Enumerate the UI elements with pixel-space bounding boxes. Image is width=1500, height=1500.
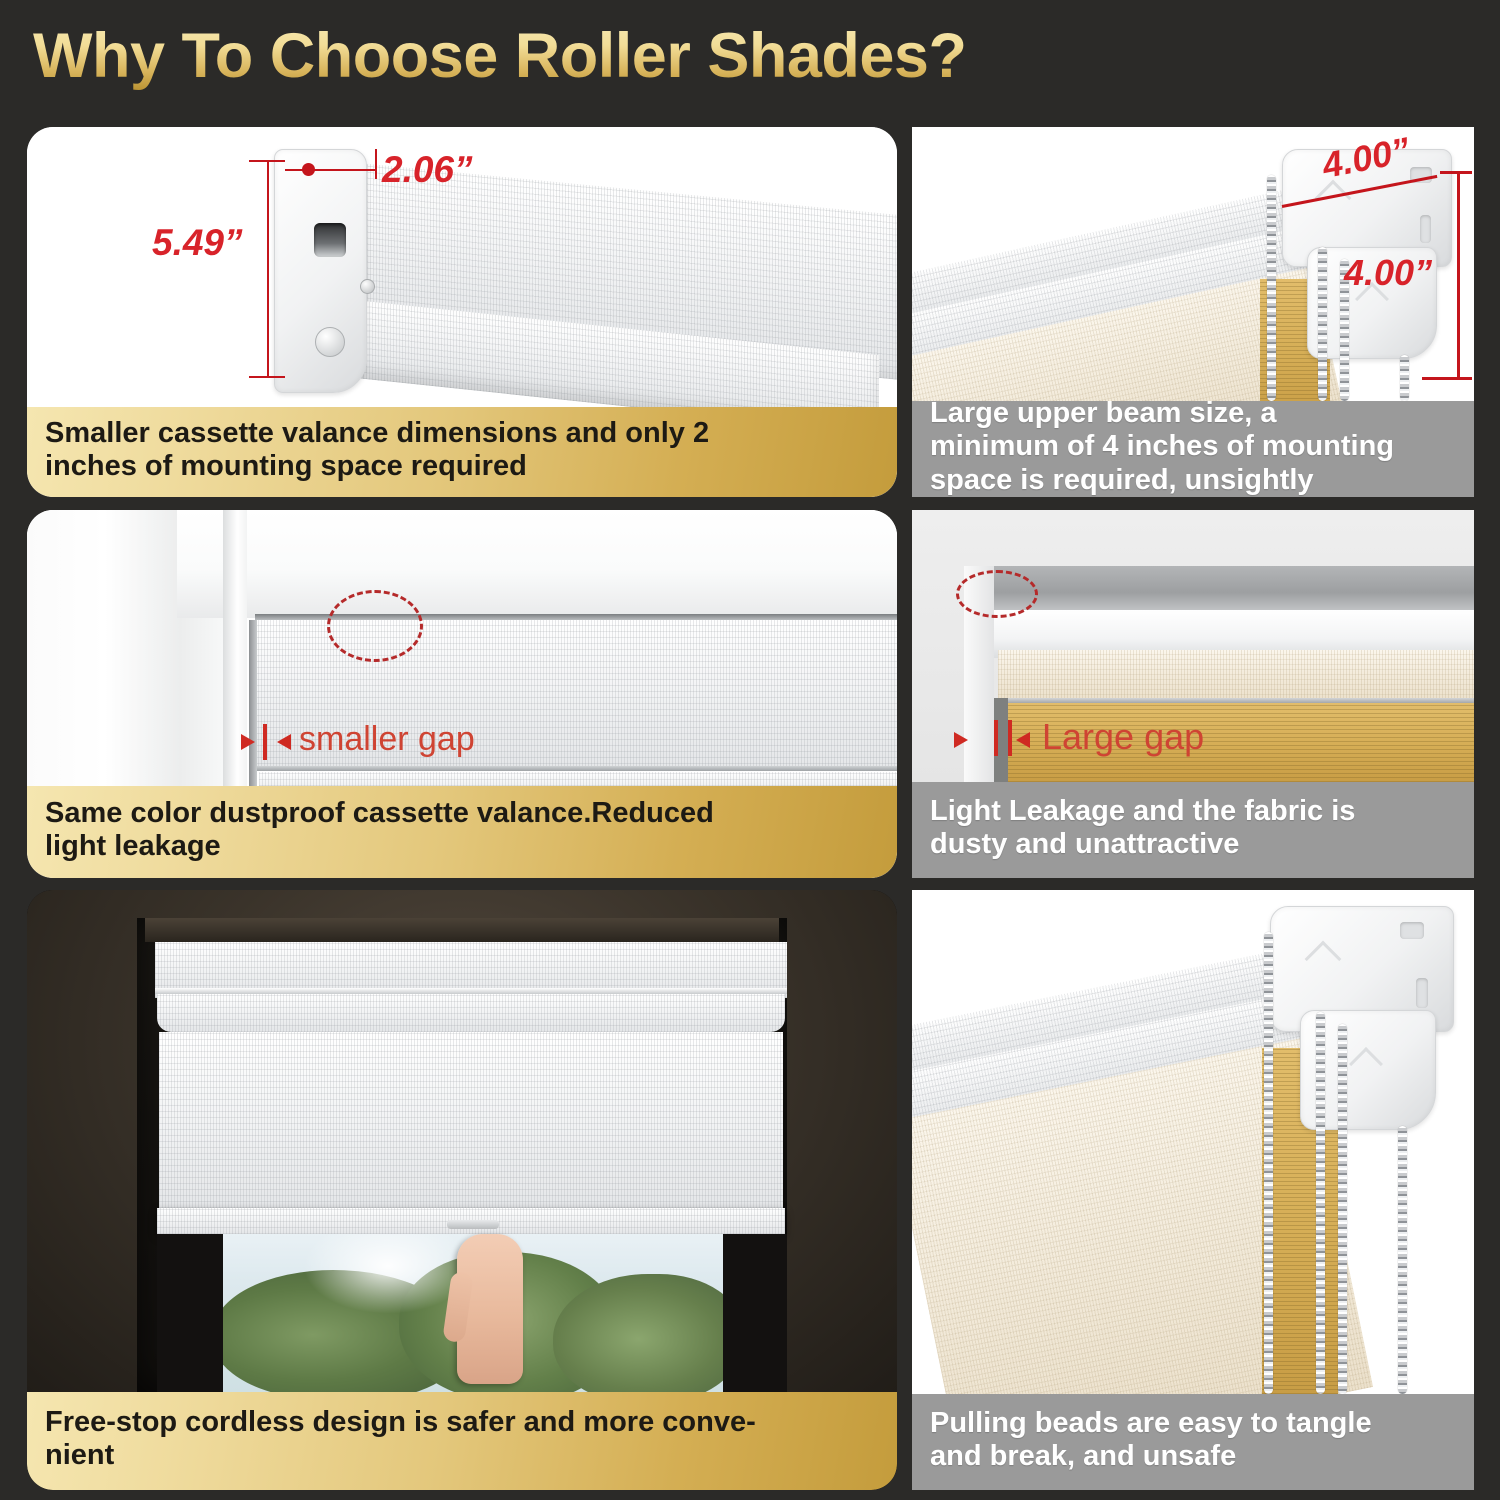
photo-small-gap: smaller gap [27,510,897,798]
panel-con-beads: Pulling beads are easy to tangle and bre… [912,890,1474,1490]
gap-marker-bar-2 [1008,720,1012,756]
end-cap-slot-icon [314,223,346,257]
panel-pro-cassette-size: 5.49” 2.06” Smaller cassette valance dim… [27,127,897,497]
gap-marker-bar-1 [994,720,998,756]
beam-height-dimension-label: 4.00” [1344,252,1432,294]
caption-con-beam-size: Large upper beam size, a minimum of 4 in… [912,401,1474,497]
caption-text: Light Leakage and the fabric is dusty an… [930,795,1456,861]
gap-arrow-right-icon [241,734,255,750]
height-dimension-label: 5.49” [152,222,243,264]
gap-arrow-left-icon [277,734,291,750]
valance-end-cap [274,149,367,393]
photo-large-gap: Large gap [912,510,1474,782]
shade-fabric-seam [257,766,897,771]
window-frame-top [177,510,897,618]
beam-height-tick-bottom [1422,377,1472,380]
end-cap-pin-icon [315,327,345,357]
gap-arrow-left-icon [1016,732,1030,748]
large-gap-highlight-circle [956,570,1038,618]
roller-tube-gray [974,566,1474,614]
gap-arrow-right-icon [954,732,968,748]
caption-text: Free-stop cordless design is safer and m… [45,1406,879,1472]
small-gap-highlight-circle [327,590,423,662]
bead-chain-2 [1318,247,1327,401]
comparison-grid: 5.49” 2.06” Smaller cassette valance dim… [0,118,1500,1500]
bracket-slot-icon-1 [1400,922,1424,939]
beige-fabric-strip [998,650,1474,700]
photo-large-beam: 4.00” 4.00” [912,127,1474,401]
caption-text: Pulling beads are easy to tangle and bre… [930,1407,1456,1473]
window-reveal-top [145,918,779,942]
panel-con-large-gap: Large gap Light Leakage and the fabric i… [912,510,1474,878]
caption-con-large-gap: Light Leakage and the fabric is dusty an… [912,782,1474,878]
panel-pro-small-gap: smaller gap Same color dustproof cassett… [27,510,897,878]
depth-dimension-line [285,169,377,171]
bead-chain-3 [1338,1024,1347,1394]
photo-cassette-valance: 5.49” 2.06” [27,127,897,417]
small-gap-label: smaller gap [299,720,475,759]
window-sill-right [723,1234,787,1392]
caption-con-beads: Pulling beads are easy to tangle and bre… [912,1394,1474,1490]
bead-chain-1 [1267,175,1276,401]
depth-dimension-tick-right [375,149,377,179]
end-cap-screw-icon [360,279,375,294]
window-frame-inner-edge [223,510,247,798]
photo-bead-chain-shade [912,890,1474,1394]
bracket-slot-icon-2 [1420,215,1431,243]
panel-con-beam-size: 4.00” 4.00” Large upper beam size, a min… [912,127,1474,497]
panel-pro-cordless: Free-stop cordless design is safer and m… [27,890,897,1490]
bracket-slot-icon-2 [1416,978,1428,1008]
gap-marker-bar [263,724,267,760]
beam-height-dimension-line [1457,171,1460,379]
window-sill-left [157,1234,223,1392]
page-title: Why To Choose Roller Shades? [33,20,966,92]
bead-chain-1 [1264,932,1273,1394]
bottom-rail-handle [447,1220,499,1229]
photo-cordless-window [27,890,897,1392]
bead-chain-4 [1398,1126,1407,1394]
depth-dimension-dot-icon [302,163,315,176]
caption-pro-cordless: Free-stop cordless design is safer and m… [27,1392,897,1490]
bead-chain-4 [1400,355,1409,401]
caption-text: Large upper beam size, a minimum of 4 in… [930,397,1456,496]
depth-dimension-label: 2.06” [382,149,473,191]
caption-pro-cassette-size: Smaller cassette valance dimensions and … [27,407,897,497]
beam-height-tick-top [1440,171,1472,174]
cordless-valance-lip [157,994,785,1032]
height-dimension-line [267,160,269,378]
cassette-left-edge [249,620,257,798]
title-bar: Why To Choose Roller Shades? [0,0,1500,118]
caption-text: Smaller cassette valance dimensions and … [45,417,879,483]
large-gap-label: Large gap [1042,716,1204,758]
height-dimension-tick-top [249,160,285,162]
caption-pro-small-gap: Same color dustproof cassette valance.Re… [27,786,897,878]
height-dimension-tick-bottom [249,376,285,378]
caption-text: Same color dustproof cassette valance.Re… [45,797,879,863]
cordless-shade-fabric [159,1032,783,1214]
bead-chain-2 [1316,1012,1325,1394]
